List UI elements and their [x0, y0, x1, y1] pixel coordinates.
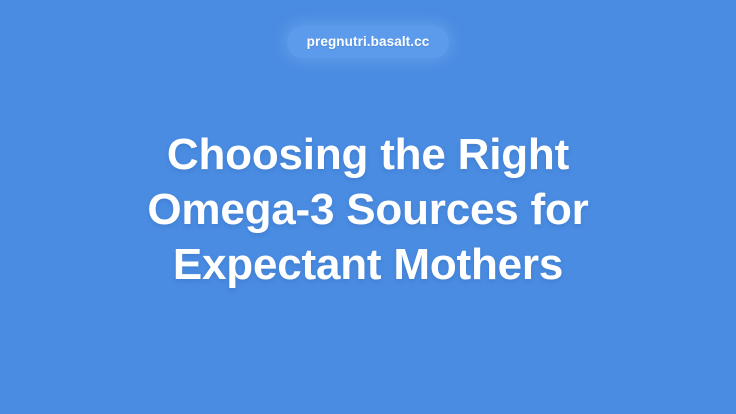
page-title-line-1: Choosing the Right: [147, 127, 588, 182]
article-cover-card: pregnutri.basalt.cc Choosing the Right O…: [0, 0, 736, 414]
page-title-line-3: Expectant Mothers: [147, 237, 588, 292]
page-title: Choosing the Right Omega-3 Sources for E…: [147, 127, 588, 292]
headline-container: Choosing the Right Omega-3 Sources for E…: [0, 0, 736, 414]
page-title-line-2: Omega-3 Sources for: [147, 182, 588, 237]
